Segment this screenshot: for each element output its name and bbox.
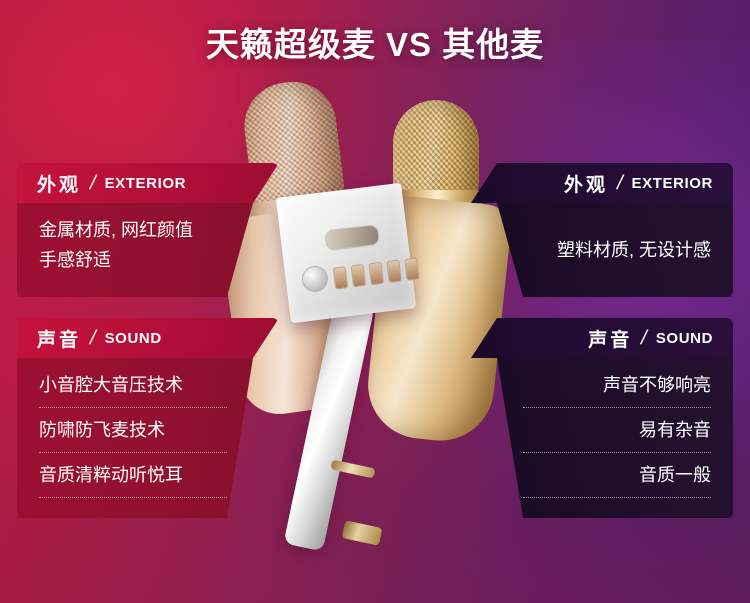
microphone-speaker-box bbox=[276, 183, 416, 323]
left-exterior-header: 外观 / EXTERIOR bbox=[17, 163, 279, 203]
left-sound-header: 声音 / SOUND bbox=[17, 318, 279, 358]
right-exterior-line-1: 塑料材质, 无设计感 bbox=[557, 235, 711, 265]
right-exterior-header-zh: 外观 bbox=[564, 170, 608, 197]
microphone-button-icon bbox=[404, 257, 420, 280]
microphone-button-icon bbox=[386, 260, 402, 283]
dotted-separator bbox=[39, 497, 227, 498]
left-exterior-body: 金属材质, 网红颜值 手感舒适 bbox=[17, 203, 279, 297]
left-sound-line-1: 小音腔大音压技术 bbox=[39, 370, 261, 400]
microphone-handle-end-cap bbox=[342, 520, 383, 546]
left-sound-body: 小音腔大音压技术 防啸防飞麦技术 音质清粹动听悦耳 bbox=[17, 358, 279, 518]
right-sound-panel: 声音 / SOUND 声音不够响亮 易有杂音 音质一般 bbox=[471, 318, 733, 518]
left-sound-header-en: SOUND bbox=[105, 330, 162, 347]
dotted-separator bbox=[523, 407, 711, 408]
right-exterior-header: 外观 / EXTERIOR bbox=[471, 163, 733, 203]
right-exterior-body: 塑料材质, 无设计感 bbox=[471, 203, 733, 297]
microphone-button-icon bbox=[333, 266, 349, 289]
left-sound-line-3: 音质清粹动听悦耳 bbox=[39, 460, 261, 490]
right-sound-line-3: 音质一般 bbox=[489, 460, 711, 490]
right-sound-header-en: SOUND bbox=[656, 330, 713, 347]
microphone-button-icon bbox=[368, 262, 384, 285]
dotted-separator bbox=[523, 497, 711, 498]
microphone-button-row bbox=[333, 257, 420, 289]
dotted-separator bbox=[39, 407, 227, 408]
microphone-knob-icon bbox=[300, 264, 329, 293]
dotted-separator bbox=[39, 452, 227, 453]
left-sound-panel: 声音 / SOUND 小音腔大音压技术 防啸防飞麦技术 音质清粹动听悦耳 bbox=[17, 318, 279, 518]
left-sound-header-zh: 声音 bbox=[37, 325, 81, 352]
right-exterior-header-en: EXTERIOR bbox=[632, 175, 713, 192]
separator-slash-icon: / bbox=[88, 327, 98, 350]
microphone-button-icon bbox=[351, 264, 367, 287]
separator-slash-icon: / bbox=[615, 172, 625, 195]
left-sound-line-2: 防啸防飞麦技术 bbox=[39, 415, 261, 445]
infographic-canvas: 天籁超级麦 VS 其他麦 外观 / EXTERIOR bbox=[0, 0, 750, 603]
left-exterior-panel: 外观 / EXTERIOR 金属材质, 网红颜值 手感舒适 bbox=[17, 163, 279, 297]
right-sound-line-2: 易有杂音 bbox=[489, 415, 711, 445]
right-sound-header: 声音 / SOUND bbox=[471, 318, 733, 358]
left-exterior-header-zh: 外观 bbox=[37, 170, 81, 197]
right-exterior-panel: 外观 / EXTERIOR 塑料材质, 无设计感 bbox=[471, 163, 733, 297]
left-exterior-line-2: 手感舒适 bbox=[39, 245, 261, 275]
separator-slash-icon: / bbox=[639, 327, 649, 350]
separator-slash-icon: / bbox=[88, 172, 98, 195]
right-sound-line-1: 声音不够响亮 bbox=[489, 370, 711, 400]
left-exterior-line-1: 金属材质, 网红颜值 bbox=[39, 215, 261, 245]
right-sound-header-zh: 声音 bbox=[588, 325, 632, 352]
dotted-separator bbox=[523, 452, 711, 453]
page-title: 天籁超级麦 VS 其他麦 bbox=[0, 18, 750, 66]
microphone-display-icon bbox=[324, 224, 380, 251]
right-sound-body: 声音不够响亮 易有杂音 音质一般 bbox=[471, 358, 733, 518]
left-exterior-header-en: EXTERIOR bbox=[105, 175, 186, 192]
